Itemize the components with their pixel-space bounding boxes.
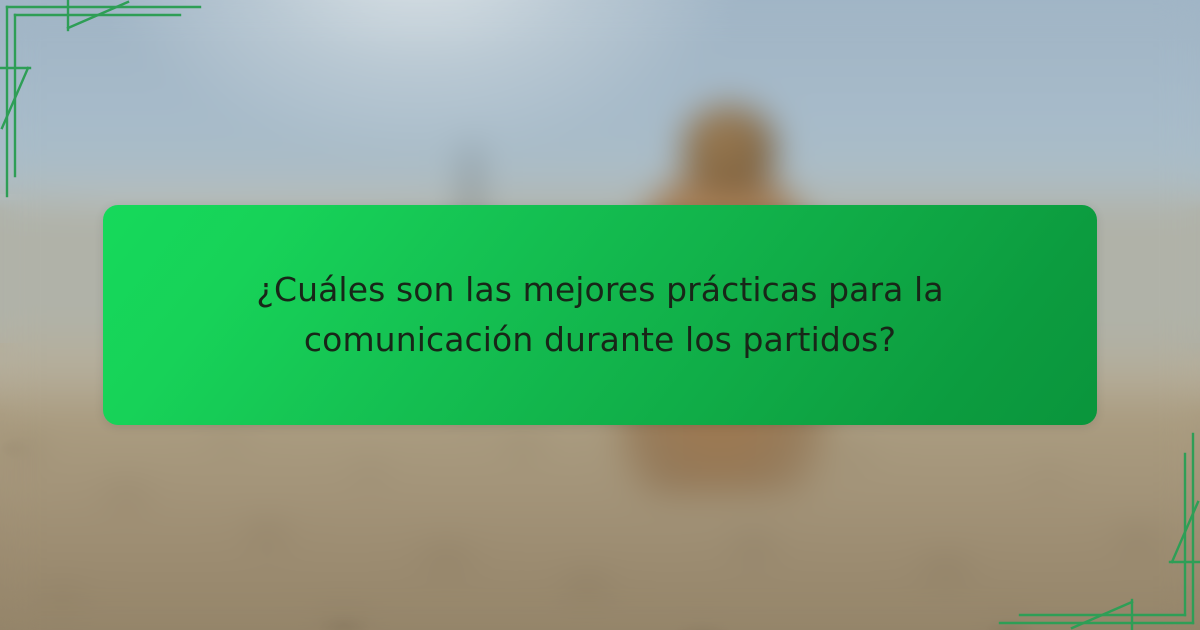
social-card-canvas: ¿Cuáles son las mejores prácticas para l… — [0, 0, 1200, 630]
question-text: ¿Cuáles son las mejores prácticas para l… — [220, 265, 980, 365]
question-card: ¿Cuáles son las mejores prácticas para l… — [103, 205, 1097, 425]
